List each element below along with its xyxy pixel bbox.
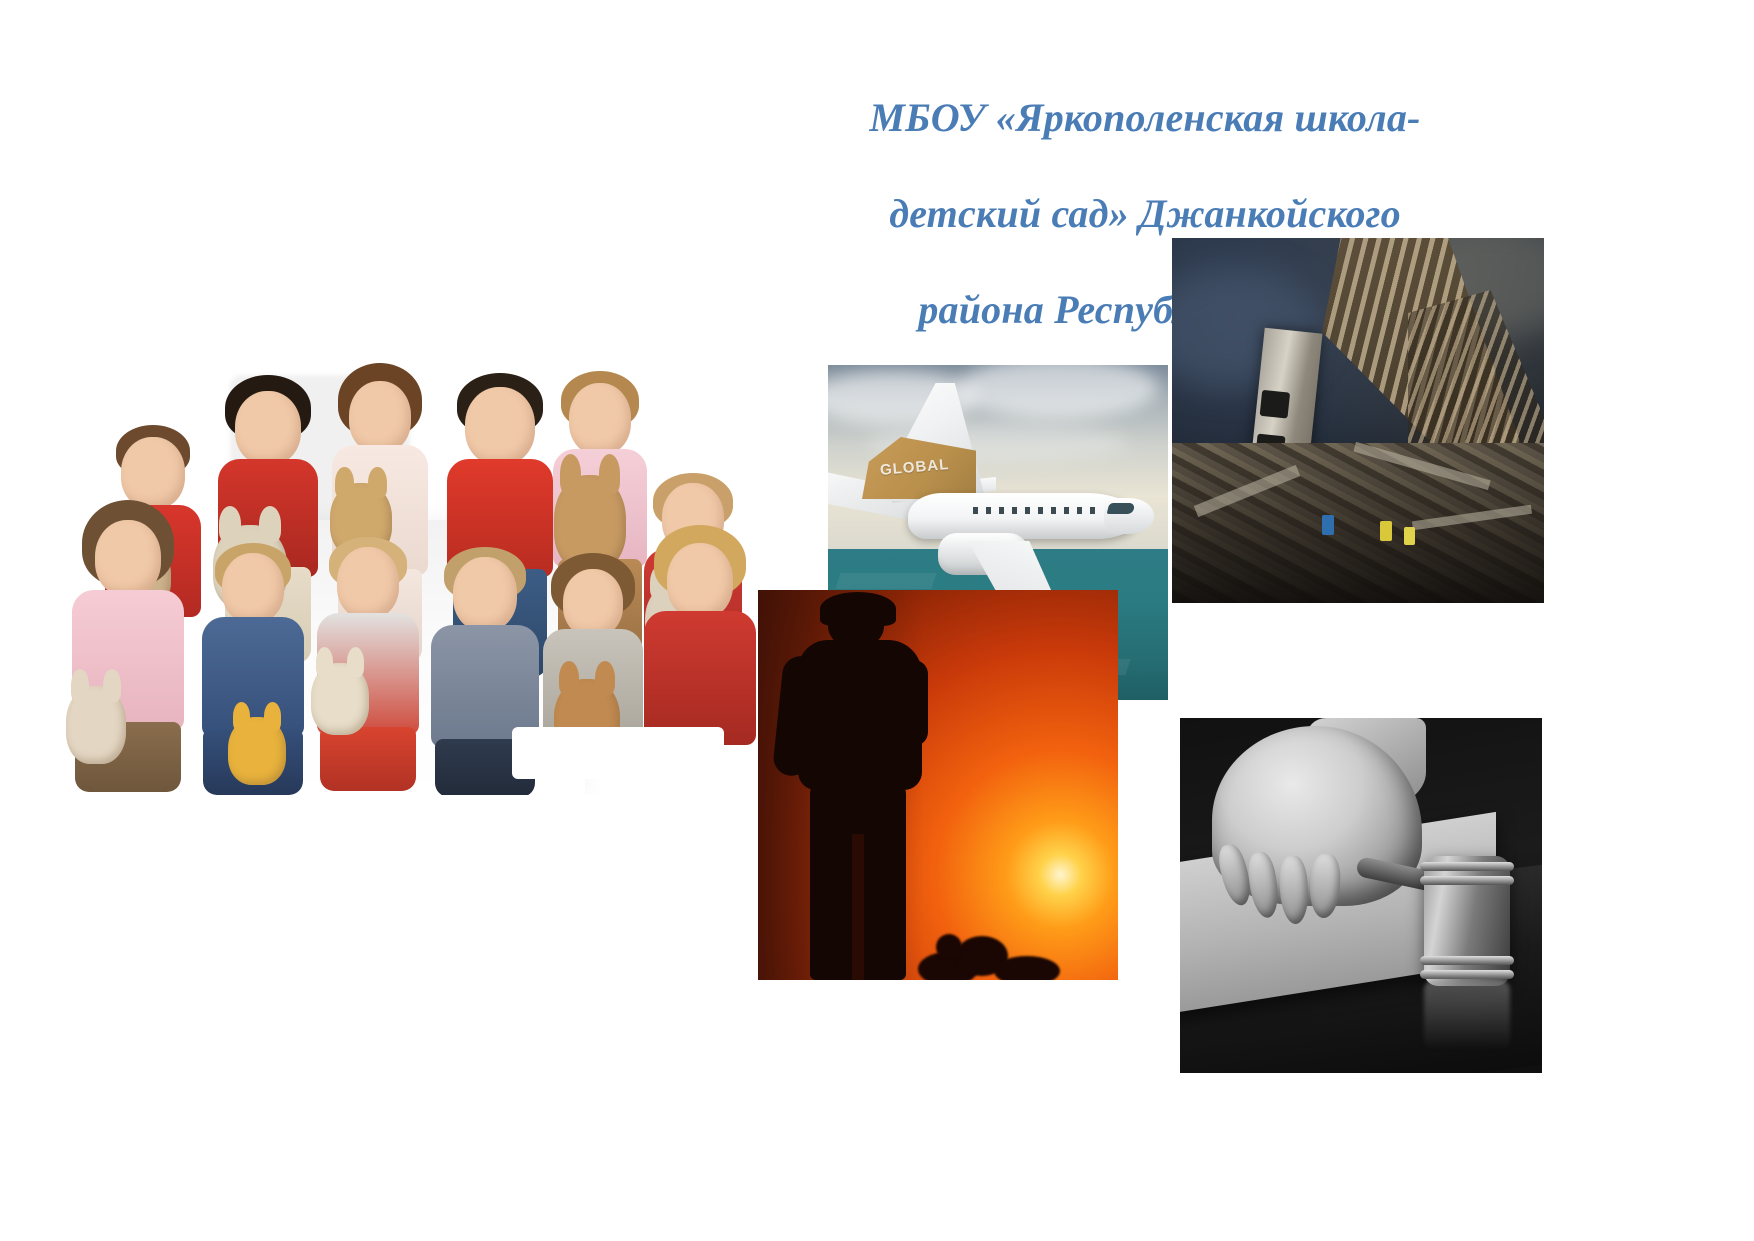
rescue-worker (1404, 527, 1415, 545)
child-head (337, 547, 399, 619)
child-front-3 (305, 537, 430, 792)
bush-leaf (936, 934, 962, 960)
child-head (95, 520, 161, 596)
plush-toy (228, 717, 286, 785)
plush-toy (66, 686, 126, 764)
child-head (121, 437, 185, 509)
children-group-photo (35, 275, 765, 795)
gavel-ring (1420, 876, 1514, 885)
debris-shard (1194, 465, 1300, 517)
gavel-ring (1420, 956, 1514, 965)
child-head (222, 553, 284, 623)
airplane-cockpit-window (1107, 503, 1136, 514)
rescue-worker (1380, 521, 1392, 541)
gavel-ring (1420, 862, 1514, 871)
children-photo-canvas (35, 275, 765, 795)
child-legs (320, 727, 416, 791)
soldier-backpack (880, 660, 928, 746)
child-head (563, 569, 623, 637)
child-front-1 (60, 500, 195, 790)
gavel-ring (1420, 970, 1514, 979)
soldier-sunset-photo (758, 590, 1118, 980)
gavel-reflection (1424, 980, 1510, 1050)
airplane-windows (973, 507, 1103, 514)
debris-shard (1412, 505, 1532, 531)
child-head (235, 391, 301, 465)
gavel-head (1424, 856, 1510, 986)
child-head (569, 383, 631, 455)
page-title-line-2: детский сад» Джанкойского (815, 190, 1475, 238)
terror-attack-ruins-photo (1172, 238, 1544, 603)
plush-toy (311, 663, 369, 735)
soldier-leg-gap (852, 834, 864, 980)
rubble-debris (1172, 443, 1544, 603)
child-torso (644, 611, 756, 745)
debris-shard (1353, 442, 1490, 490)
child-head (349, 381, 411, 453)
bush-leaf (994, 956, 1060, 980)
rescue-worker (1322, 515, 1334, 535)
child-head (465, 387, 535, 465)
judge-gavel-photo (1180, 718, 1542, 1073)
page-title-line-1: МБОУ «Яркополенская школа- (815, 94, 1475, 142)
child-head (667, 543, 733, 619)
child-front-2 (190, 543, 315, 793)
empty-text-box[interactable] (512, 727, 724, 779)
beam-notch (1260, 390, 1291, 419)
child-head (453, 557, 517, 631)
bush-silhouette (908, 904, 1078, 980)
